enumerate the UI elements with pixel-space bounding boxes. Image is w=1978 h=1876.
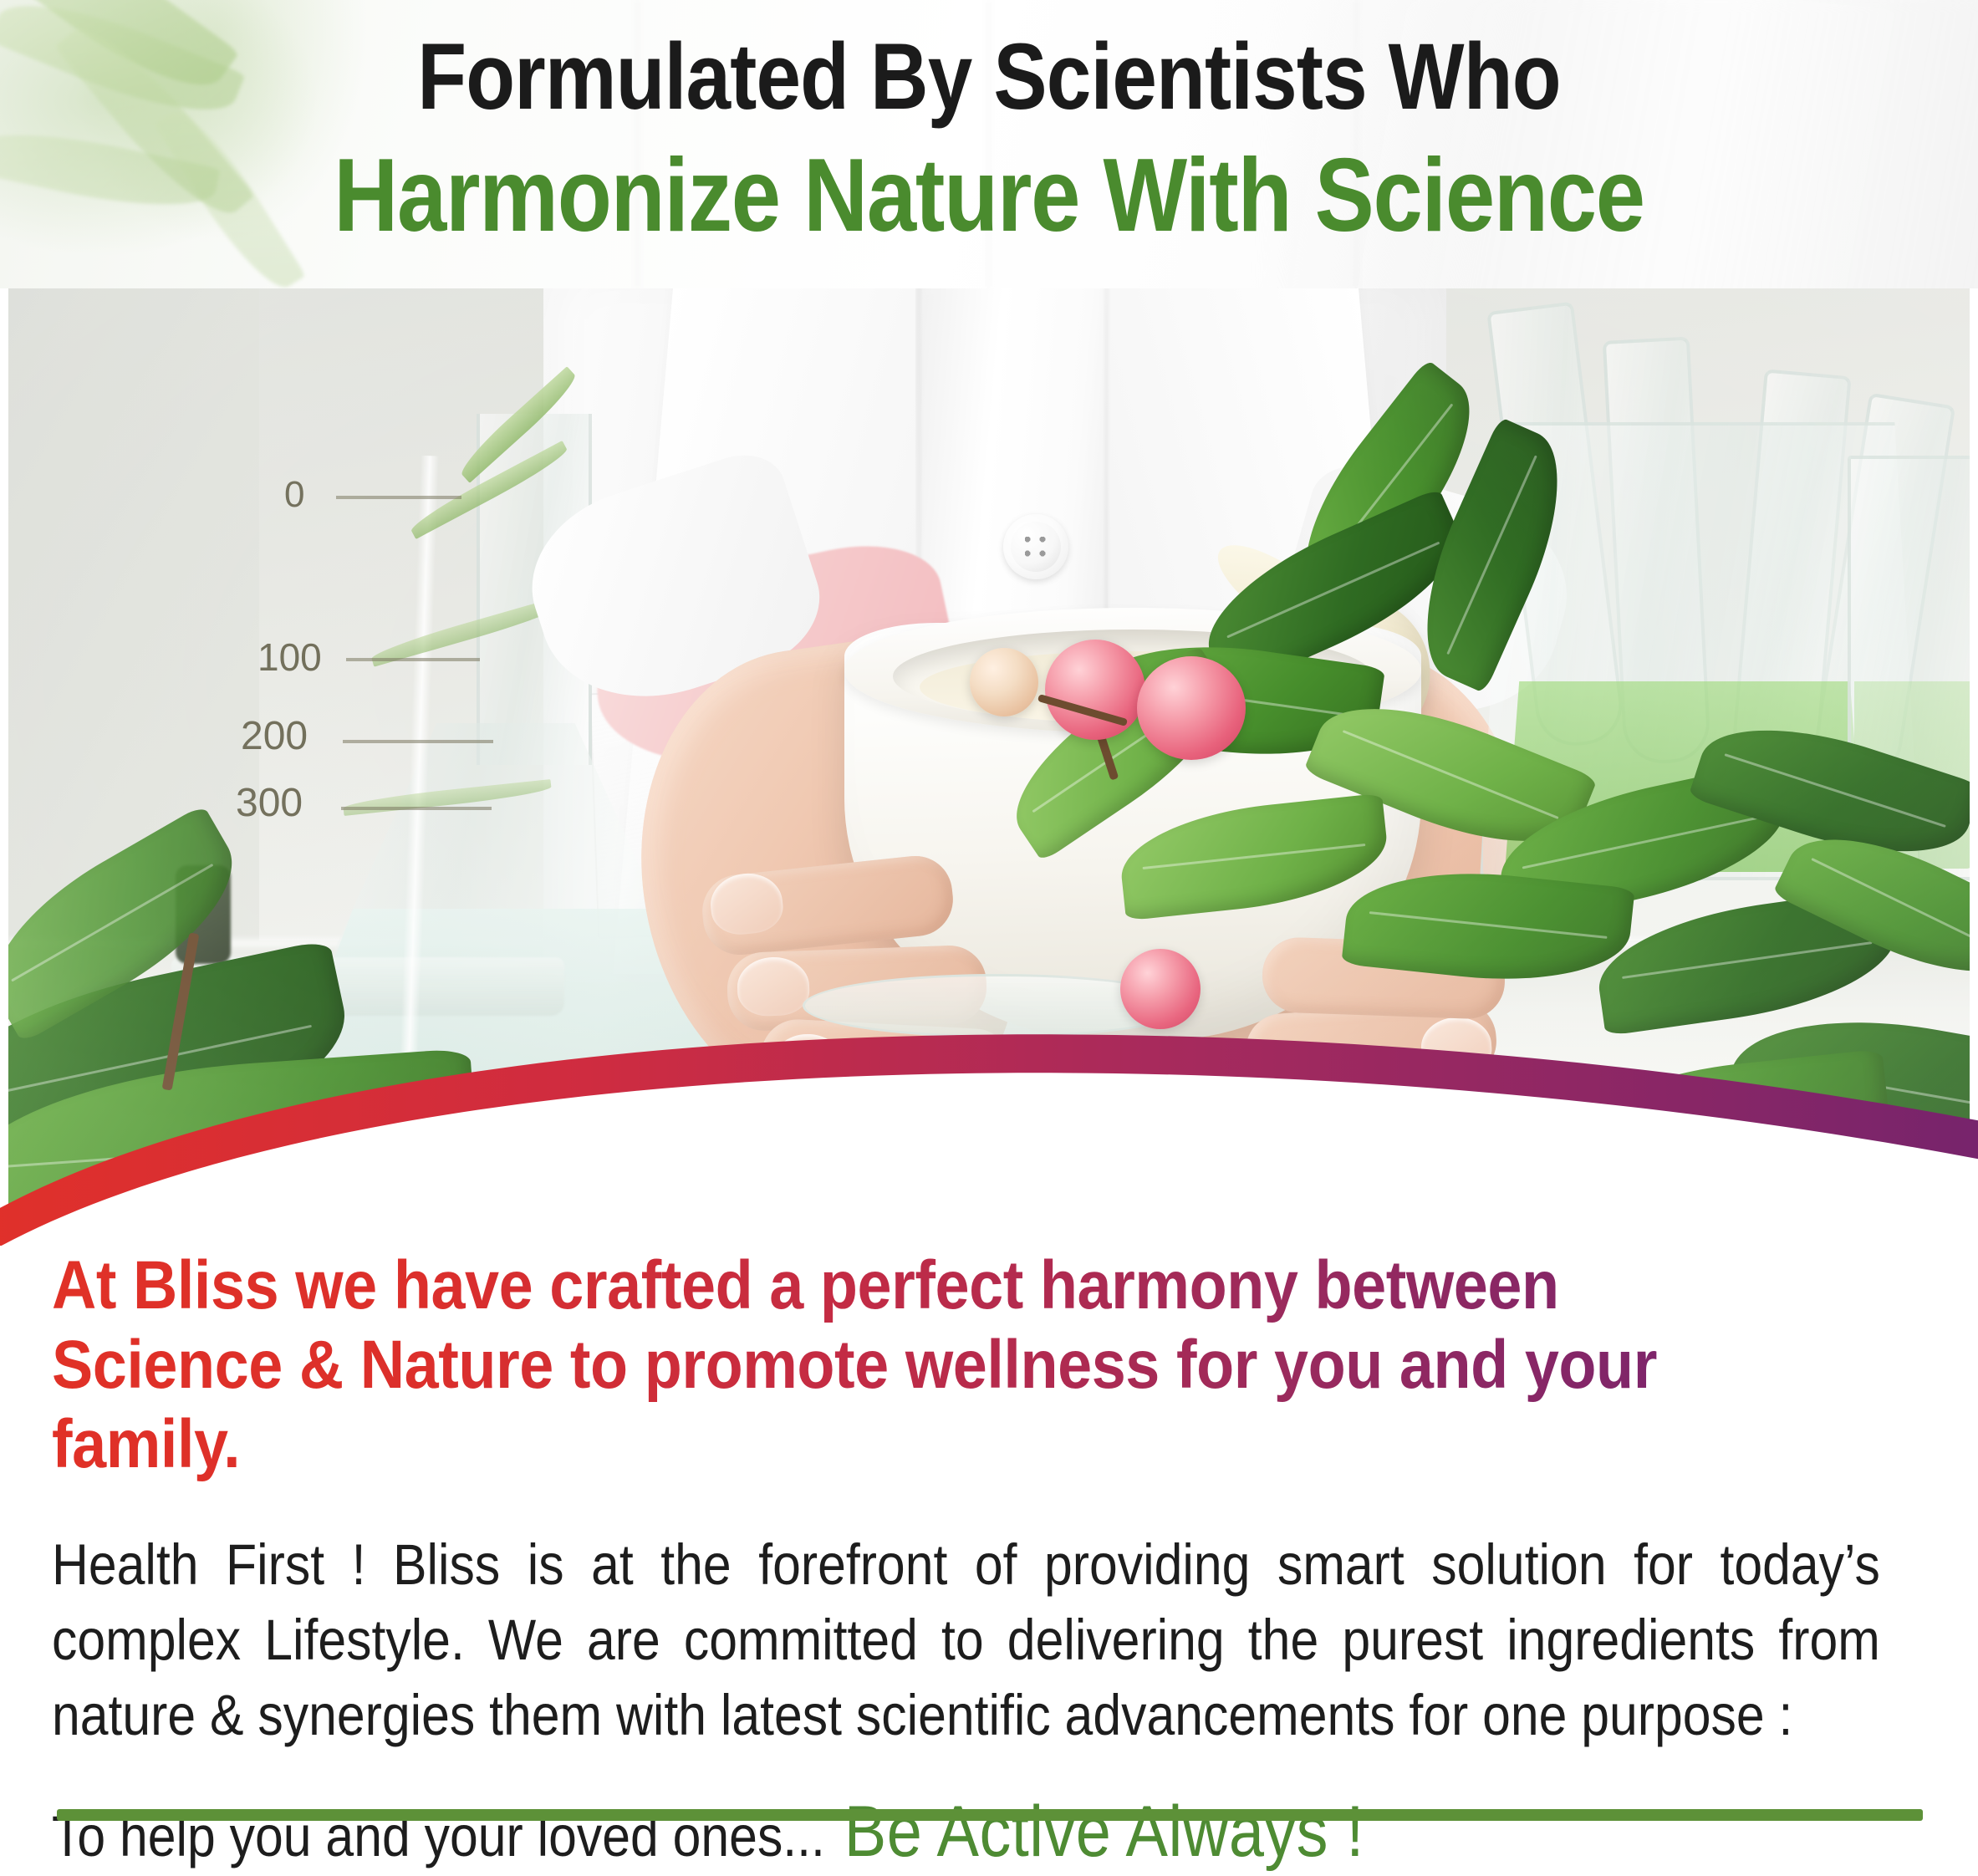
headline-block: Formulated By Scientists Who Harmonize N… xyxy=(0,0,1978,247)
closing-cta: Be Active Always ! xyxy=(844,1792,1364,1872)
body-paragraph: Health First ! Bliss is at the forefront… xyxy=(52,1527,1880,1752)
berry xyxy=(1137,656,1246,760)
coat-button-icon xyxy=(1003,514,1068,579)
berry-unripe xyxy=(970,648,1038,716)
footer-rule xyxy=(57,1809,1923,1821)
closing-line: To help you and your loved ones...Be Act… xyxy=(52,1789,1701,1875)
fingernail xyxy=(737,956,810,1017)
flask-marking-300: 300 xyxy=(236,780,303,826)
flask-marking-200: 200 xyxy=(241,713,308,759)
flask-marking-100: 100 xyxy=(257,635,322,680)
hero-photo: 0 100 200 300 xyxy=(8,288,1970,1212)
lede-heading: At Bliss we have crafted a perfect harmo… xyxy=(52,1246,1739,1484)
berry xyxy=(1120,949,1201,1029)
page-header: Formulated By Scientists Who Harmonize N… xyxy=(0,0,1978,288)
flask-marking-0: 0 xyxy=(284,474,304,516)
headline-primary: Formulated By Scientists Who xyxy=(139,30,1840,124)
berry xyxy=(1045,640,1145,740)
headline-secondary: Harmonize Nature With Science xyxy=(139,144,1840,247)
content-section: At Bliss we have crafted a perfect harmo… xyxy=(0,1246,1978,1876)
